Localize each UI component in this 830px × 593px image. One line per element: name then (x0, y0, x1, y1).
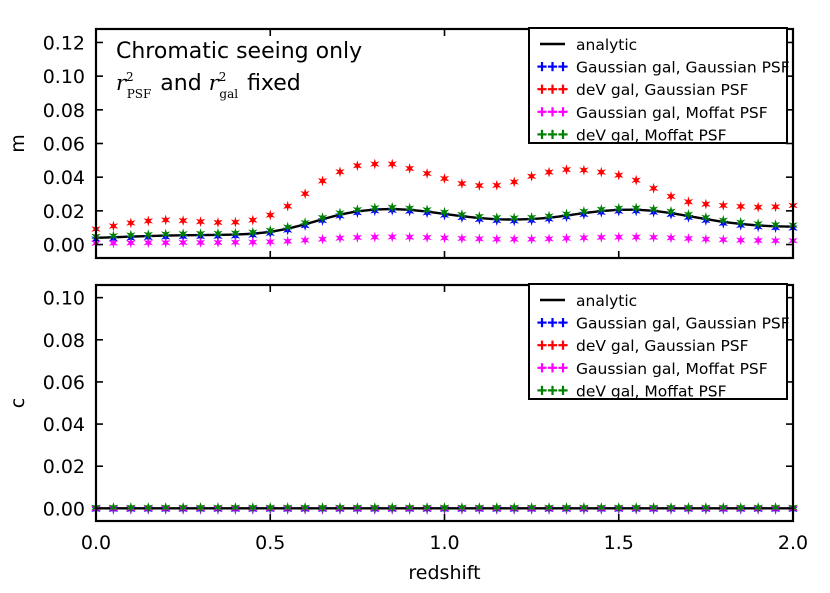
top-legend-marker-swatch (541, 130, 543, 139)
top-ytick-label: 0.00 (43, 235, 85, 257)
bottom-xtick-label: 1.5 (604, 532, 634, 554)
top-ytick-label: 0.04 (43, 167, 85, 189)
bottom-legend-marker-swatch (562, 341, 564, 350)
top-legend-marker-swatch (562, 85, 564, 94)
top-legend-marker-swatch (562, 107, 564, 116)
bottom-legend-marker-swatch (562, 386, 564, 395)
bottom-legend-marker-swatch (551, 363, 553, 372)
bottom-ylabel: c (7, 398, 29, 408)
bottom-legend-label: deV gal, Moffat PSF (576, 382, 727, 400)
bottom-ytick-label: 0.02 (43, 456, 85, 478)
bottom-xtick-label: 0.0 (81, 532, 111, 554)
top-legend: analyticGaussian gal, Gaussian PSFdeV ga… (529, 28, 790, 144)
top-legend-marker-swatch (541, 107, 543, 116)
top-legend-label: deV gal, Moffat PSF (576, 126, 727, 144)
top-legend-marker-swatch (562, 62, 564, 71)
bottom-ytick-label: 0.00 (43, 498, 85, 520)
top-panel: 0.000.020.040.060.080.100.12manalyticGau… (7, 28, 798, 258)
bottom-legend-label: Gaussian gal, Moffat PSF (576, 360, 768, 378)
bottom-xtick-label: 0.5 (255, 532, 285, 554)
top-ytick-label: 0.02 (43, 201, 85, 223)
bottom-legend-marker-swatch (541, 318, 543, 327)
top-ytick-label: 0.08 (43, 100, 85, 122)
bottom-legend-marker-swatch (541, 341, 543, 350)
bottom-legend-label: deV gal, Gaussian PSF (576, 337, 749, 355)
bottom-ytick-label: 0.10 (43, 288, 85, 310)
top-legend-label: analytic (576, 36, 637, 54)
top-ytick-label: 0.12 (43, 32, 85, 54)
bottom-xtick-label: 2.0 (778, 532, 808, 554)
bottom-ytick-label: 0.06 (43, 372, 85, 394)
annotation-line-1: Chromatic seeing only (116, 39, 362, 64)
top-ylabel: m (7, 134, 29, 153)
top-legend-marker-swatch (562, 130, 564, 139)
bottom-legend-label: analytic (576, 292, 637, 310)
top-ytick-label: 0.10 (43, 66, 85, 88)
top-legend-label: deV gal, Gaussian PSF (576, 81, 749, 99)
top-legend-label: Gaussian gal, Gaussian PSF (576, 59, 790, 77)
bottom-panel: 0.000.020.040.060.080.100.00.51.01.52.0c… (7, 284, 808, 584)
bottom-legend-label: Gaussian gal, Gaussian PSF (576, 315, 790, 333)
bottom-legend-marker-swatch (562, 363, 564, 372)
top-legend-marker-swatch (551, 130, 553, 139)
bottom-xtick-label: 1.0 (429, 532, 459, 554)
bottom-ytick-label: 0.04 (43, 414, 85, 436)
top-legend-marker-swatch (551, 85, 553, 94)
bottom-legend-marker-swatch (562, 318, 564, 327)
top-legend-marker-swatch (541, 62, 543, 71)
bottom-xlabel: redshift (408, 562, 480, 584)
bottom-legend: analyticGaussian gal, Gaussian PSFdeV ga… (529, 284, 790, 400)
bottom-legend-marker-swatch (541, 363, 543, 372)
bottom-ytick-label: 0.08 (43, 330, 85, 352)
top-legend-marker-swatch (541, 85, 543, 94)
figure-canvas: 0.000.020.040.060.080.100.12manalyticGau… (0, 0, 830, 593)
bottom-legend-marker-swatch (551, 341, 553, 350)
bottom-legend-marker-swatch (551, 318, 553, 327)
bottom-legend-marker-swatch (541, 386, 543, 395)
top-legend-marker-swatch (551, 107, 553, 116)
matplotlib-figure: 0.000.020.040.060.080.100.12manalyticGau… (0, 0, 830, 593)
top-legend-label: Gaussian gal, Moffat PSF (576, 104, 768, 122)
top-legend-marker-swatch (551, 62, 553, 71)
top-ytick-label: 0.06 (43, 134, 85, 156)
bottom-legend-marker-swatch (551, 386, 553, 395)
